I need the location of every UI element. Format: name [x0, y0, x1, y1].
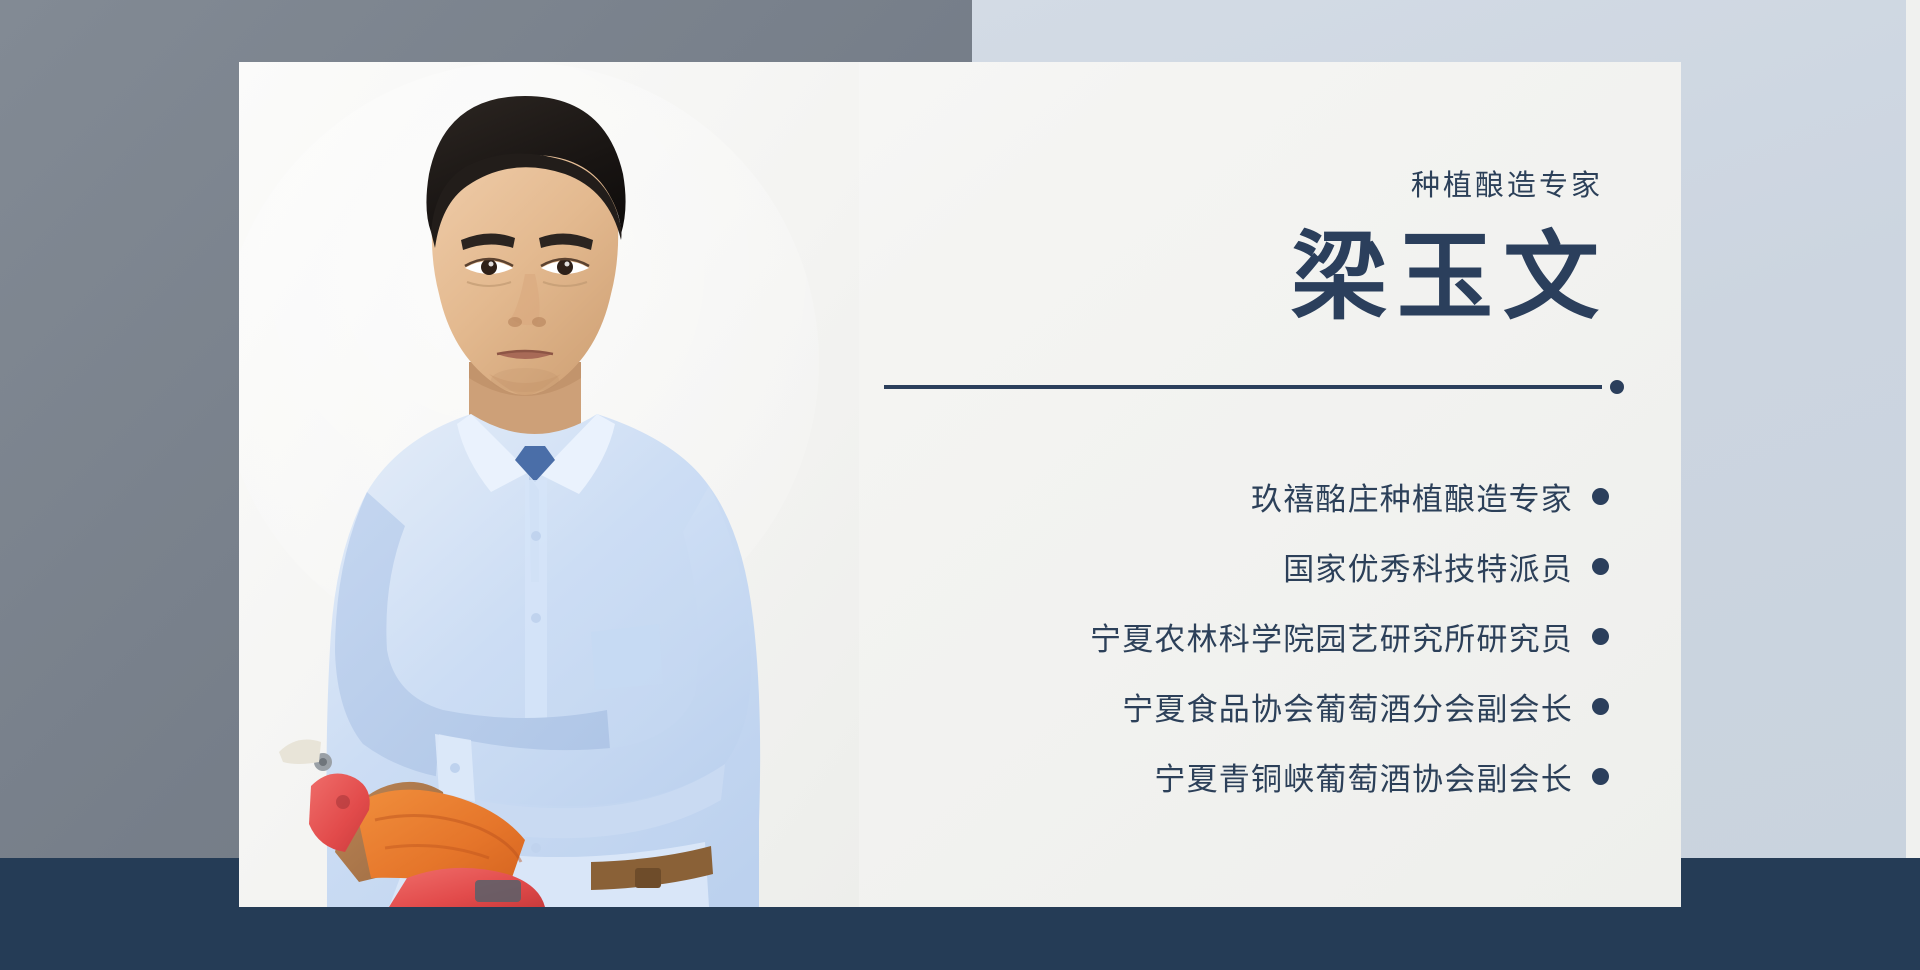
list-item: 国家优秀科技特派员	[709, 544, 1609, 589]
profile-banner: 种植酿造专家 梁玉文 玖禧酩庄种植酿造专家 国家优秀科技特派员 宁夏农林科学院园…	[0, 0, 1920, 970]
bullet-dot-icon	[1592, 768, 1609, 785]
divider-end-dot-icon	[1610, 380, 1624, 394]
bullet-dot-icon	[1592, 628, 1609, 645]
list-item: 宁夏农林科学院园艺研究所研究员	[709, 614, 1609, 659]
profile-text-column: 种植酿造专家 梁玉文 玖禧酩庄种植酿造专家 国家优秀科技特派员 宁夏农林科学院园…	[659, 62, 1681, 907]
bullet-dot-icon	[1592, 488, 1609, 505]
list-item: 宁夏食品协会葡萄酒分会副会长	[709, 684, 1609, 729]
credential-list: 玖禧酩庄种植酿造专家 国家优秀科技特派员 宁夏农林科学院园艺研究所研究员 宁夏食…	[709, 474, 1609, 799]
bullet-dot-icon	[1592, 558, 1609, 575]
profile-role-label: 种植酿造专家	[1411, 162, 1603, 204]
credential-label: 宁夏农林科学院园艺研究所研究员	[1090, 614, 1573, 659]
divider-line	[884, 385, 1602, 389]
list-item: 玖禧酩庄种植酿造专家	[709, 474, 1609, 519]
profile-card: 种植酿造专家 梁玉文 玖禧酩庄种植酿造专家 国家优秀科技特派员 宁夏农林科学院园…	[239, 62, 1681, 907]
credential-label: 玖禧酩庄种植酿造专家	[1251, 474, 1573, 519]
list-item: 宁夏青铜峡葡萄酒协会副会长	[709, 754, 1609, 799]
credential-label: 宁夏食品协会葡萄酒分会副会长	[1122, 684, 1573, 729]
divider-rule	[884, 380, 1624, 394]
background-edge-right	[1906, 0, 1920, 858]
bullet-dot-icon	[1592, 698, 1609, 715]
credential-label: 国家优秀科技特派员	[1283, 544, 1573, 589]
credential-label: 宁夏青铜峡葡萄酒协会副会长	[1154, 754, 1573, 799]
profile-name: 梁玉文	[1291, 228, 1609, 329]
